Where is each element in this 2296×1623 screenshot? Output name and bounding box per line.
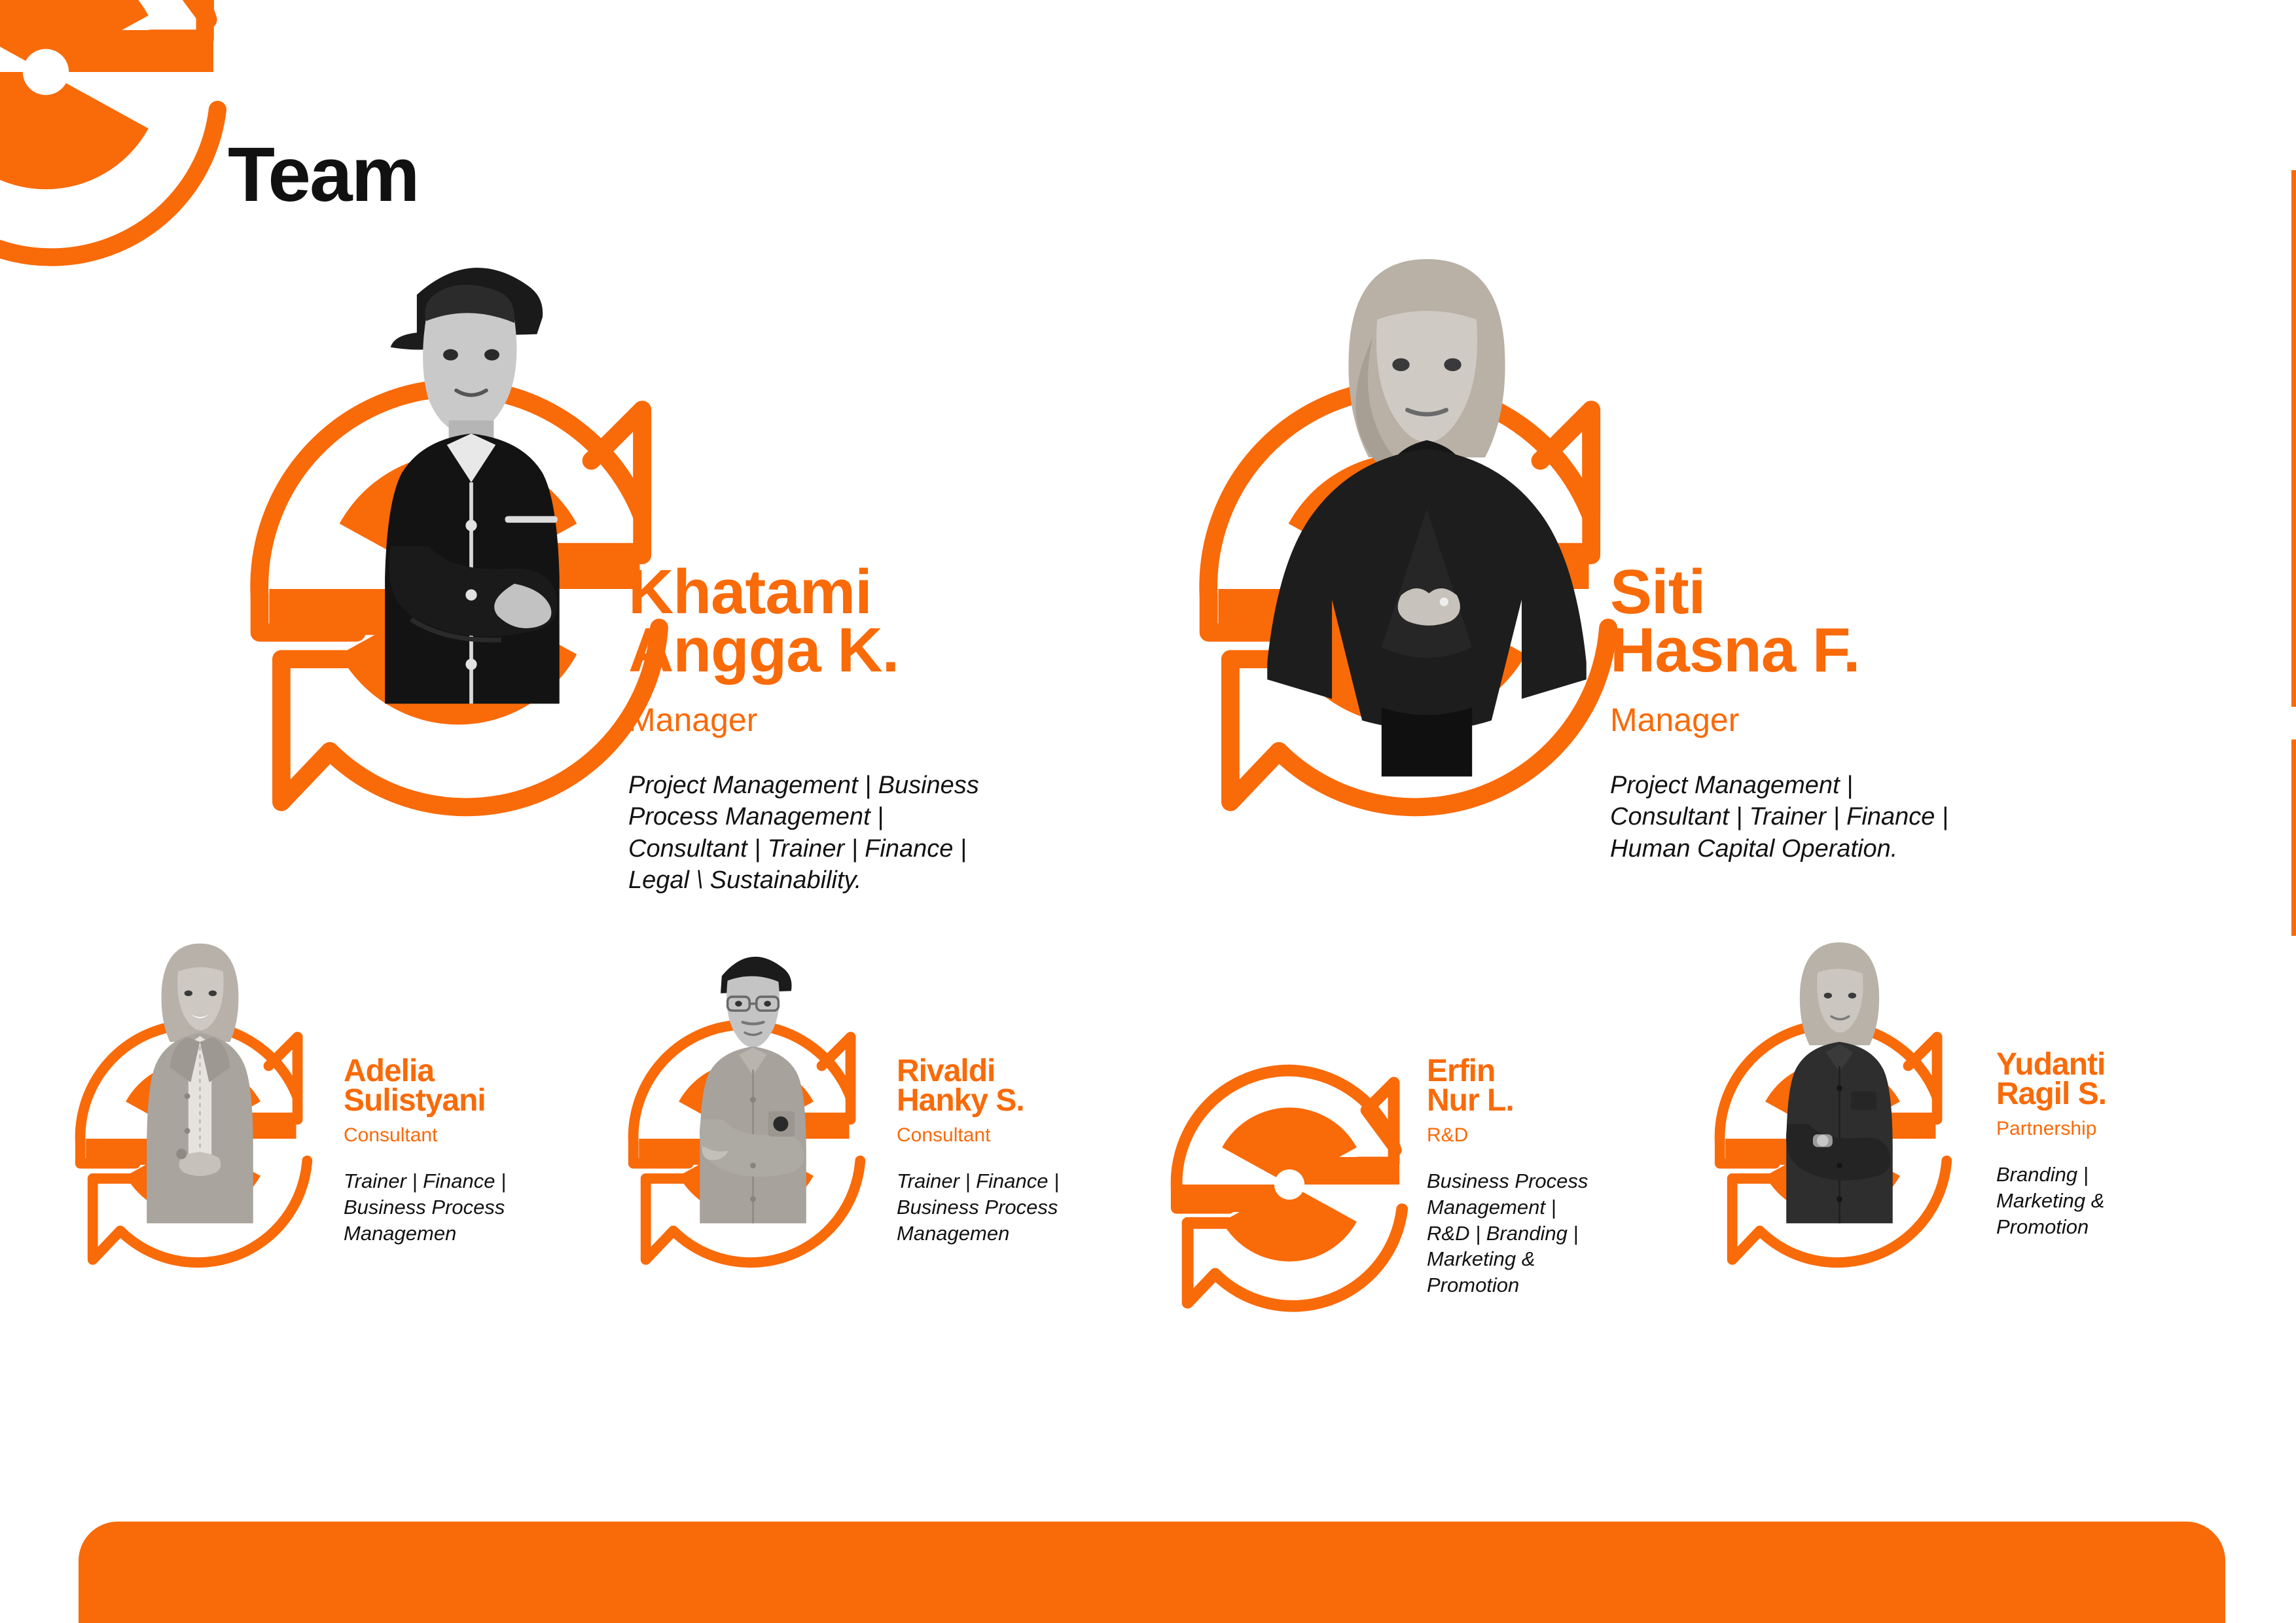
avatar — [1753, 923, 1926, 1329]
bottom-accent-bar — [79, 1522, 2225, 1623]
member-role: Manager — [628, 702, 1047, 738]
member-name: Siti Hasna F. — [1610, 563, 2029, 680]
avatar — [331, 216, 612, 870]
member-role: Consultant — [344, 1124, 592, 1146]
member-name: Khatami Angga K. — [628, 563, 1047, 680]
member-name: Erfin Nur L. — [1427, 1057, 1676, 1115]
member-photo-badge — [609, 1001, 884, 1276]
member-photo-badge — [216, 347, 700, 831]
member-name: Rivaldi Hanky S. — [897, 1057, 1145, 1115]
member-skills: Business Process Management | R&D | Bran… — [1427, 1168, 1676, 1298]
member-photo-badge — [1152, 1047, 1427, 1322]
member-skills: Project Management | Business Process Ma… — [628, 770, 1047, 897]
edge-accent-sliver-2 — [2291, 740, 2296, 936]
member-info: Khatami Angga K. Manager Project Managem… — [628, 563, 1047, 897]
member-role: Manager — [1610, 702, 2029, 738]
member-skills: Project Management | Consultant | Traine… — [1610, 770, 2029, 865]
member-info: Yudanti Ragil S. Partnership Branding | … — [1996, 1050, 2245, 1240]
edge-accent-sliver — [2291, 170, 2296, 707]
member-role: R&D — [1427, 1124, 1676, 1146]
avatar — [666, 923, 840, 1329]
member-info: Siti Hasna F. Manager Project Management… — [1610, 563, 2029, 865]
member-photo-badge — [1695, 1001, 1970, 1276]
member-role: Partnership — [1996, 1118, 2245, 1139]
member-name: Adelia Sulistyani — [344, 1057, 592, 1115]
cycle-arrows-logo-icon — [0, 0, 255, 281]
member-info: Erfin Nur L. R&D Business Process Manage… — [1427, 1057, 1676, 1298]
member-photo-badge — [1165, 347, 1649, 831]
member-skills: Trainer | Finance | Business Process Man… — [344, 1168, 592, 1246]
member-skills: Trainer | Finance | Business Process Man… — [897, 1168, 1145, 1246]
page-title: Team — [228, 136, 419, 213]
cycle-arrows-logo-icon — [1152, 1047, 1427, 1325]
member-info: Rivaldi Hanky S. Consultant Trainer | Fi… — [897, 1057, 1145, 1246]
member-photo-badge — [56, 1001, 331, 1276]
member-role: Consultant — [897, 1124, 1145, 1146]
member-skills: Branding | Marketing & Promotion — [1996, 1162, 2245, 1240]
avatar — [113, 923, 287, 1329]
member-name: Yudanti Ragil S. — [1996, 1050, 2245, 1109]
avatar — [1244, 216, 1610, 870]
member-info: Adelia Sulistyani Consultant Trainer | F… — [344, 1057, 592, 1246]
team-slide: Team Khatami Angga K. Manager Project Ma… — [0, 0, 2296, 1623]
